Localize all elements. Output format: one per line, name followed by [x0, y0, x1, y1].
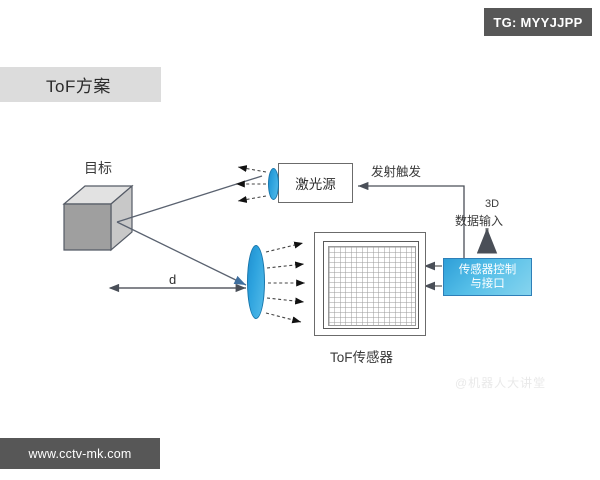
target-label: 目标 [84, 158, 112, 178]
laser-source-label: 激光源 [295, 173, 336, 193]
laser-emission-rays [236, 167, 266, 201]
diagram-canvas: TG: MYYJJPP ToF方案 [0, 0, 600, 480]
received-light-rays [266, 243, 305, 322]
target-cube-icon [64, 186, 132, 250]
tof-sensor-module [314, 232, 426, 336]
reflection-ray-lower [117, 222, 246, 285]
sensor-control-label-line1: 传感器控制 [459, 263, 517, 277]
channel-tag-badge: TG: MYYJJPP [484, 8, 592, 36]
channel-tag-text: TG: MYYJJPP [493, 15, 582, 30]
laser-lens-icon [268, 168, 279, 200]
tof-pixel-grid [328, 246, 416, 326]
tof-sensor-label: ToF传感器 [330, 346, 393, 366]
data-input-label-text: 数据输入 [455, 212, 503, 229]
data-input-label-3d: 3D [477, 198, 507, 210]
source-watermark: @机器人大讲堂 [455, 374, 546, 391]
reflection-ray-upper [117, 176, 262, 222]
sensor-control-box: 传感器控制 与接口 [443, 258, 532, 296]
emission-trigger-label: 发射触发 [371, 161, 421, 180]
distance-label: d [169, 272, 176, 287]
laser-source-box: 激光源 [278, 163, 353, 203]
page-title: ToF方案 [46, 72, 111, 97]
footer-bar: www.cctv-mk.com [0, 438, 160, 469]
title-banner: ToF方案 [0, 67, 161, 102]
receiving-lens-icon [247, 245, 265, 319]
sensor-control-connectors [424, 266, 442, 286]
footer-url: www.cctv-mk.com [29, 447, 132, 461]
sensor-control-label-line2: 与接口 [470, 277, 505, 291]
tof-sensor-inner-frame [323, 241, 419, 329]
